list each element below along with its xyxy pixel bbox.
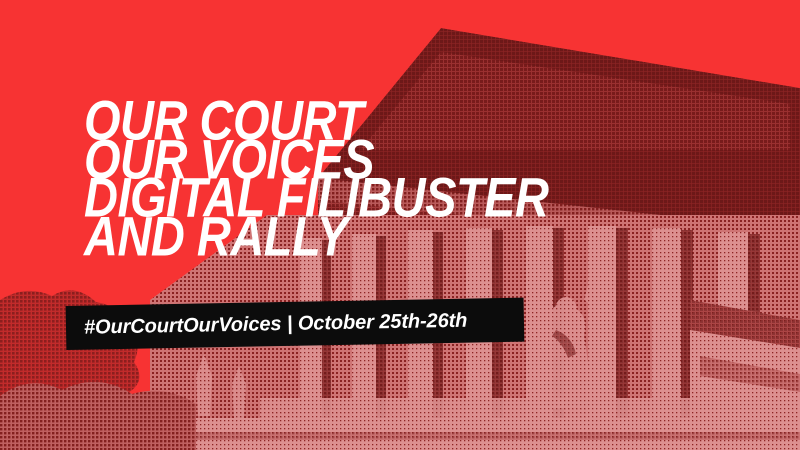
subtitle-bar: #OurCourtOurVoices | October 25th-26th <box>66 298 525 350</box>
subtitle-text: #OurCourtOurVoices | October 25th-26th <box>66 309 468 339</box>
event-promo-banner: OUR COURT OUR VOICES DIGITAL FILIBUSTER … <box>0 0 800 450</box>
headline-line-4: AND RALLY <box>84 214 548 259</box>
headline-block: OUR COURT OUR VOICES DIGITAL FILIBUSTER … <box>84 98 548 252</box>
